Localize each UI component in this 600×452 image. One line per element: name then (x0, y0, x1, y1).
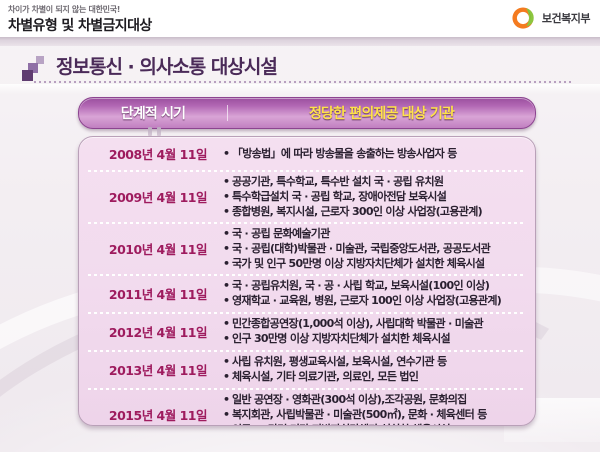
list-item: 「방송법」에 따라 방송물을 송출하는 방송사업자 등 (223, 146, 527, 161)
row-date: 2009년 4월 11일 (79, 187, 219, 206)
list-item: 영재학교 · 교육원, 병원, 근로자 100인 이상 사업장(고용관계) (223, 293, 527, 308)
row-date: 2012년 4월 11일 (79, 322, 219, 341)
list-item: 특수학급설치 국 · 공립 학교, 장애아전담 보육시설 (223, 189, 527, 204)
table-row: 2010년 4월 11일 국 · 공립 문화예술기관 국 · 공립(대학)박물관… (79, 222, 535, 274)
header-divider (0, 37, 600, 46)
row-date: 2008년 4월 11일 (79, 144, 219, 163)
list-item: 국 · 공립 문화예술기관 (223, 226, 527, 241)
mohw-logo-icon (510, 5, 536, 31)
list-item: 국 · 공립유치원, 국 · 공 · 사립 학교, 보육시설(100인 이상) (223, 278, 527, 293)
row-items: 민간종합공연장(1,000석 이상), 사립대학 박물관 · 미술관 인구 30… (219, 311, 535, 351)
list-item: 일반 공연장 · 영화관(300석 이상),조각공원, 문화의집 (223, 392, 527, 407)
list-item: 종합병원, 복지시설, 근로자 300인 이상 사업장(고용관계) (223, 204, 527, 219)
table-row: 2012년 4월 11일 민간종합공연장(1,000석 이상), 사립대학 박물… (79, 312, 535, 350)
table-header-bar: 단계적 시기 정당한 편의제공 대상 기관 (78, 97, 536, 129)
row-items: 일반 공연장 · 영화관(300석 이상),조각공원, 문화의집 복지회관, 사… (219, 387, 535, 426)
row-items: 공공기관, 특수학교, 특수반 설치 국 · 공립 유치원 특수학급설치 국 ·… (219, 169, 535, 224)
list-item: 국 · 공립(대학)박물관 · 미술관, 국립중앙도서관, 공공도서관 (223, 241, 527, 256)
row-date: 2010년 4월 11일 (79, 239, 219, 258)
table-row: 2009년 4월 11일 공공기관, 특수학교, 특수반 설치 국 · 공립 유… (79, 170, 535, 222)
row-items: 「방송법」에 따라 방송물을 송출하는 방송사업자 등 (219, 141, 535, 166)
row-items: 사립 유치원, 평생교육시설, 보육시설, 연수기관 등 체육시설, 기타 의료… (219, 349, 535, 389)
slide-root: 차이가 차별이 되지 않는 대한민국! 차별유형 및 차별금지대상 보건복지부 … (0, 0, 600, 452)
connector-left (148, 127, 152, 136)
column-header-targets: 정당한 편의제공 대상 기관 (228, 103, 535, 123)
list-item: 사립 유치원, 평생교육시설, 보육시설, 연수기관 등 (223, 354, 527, 369)
row-date: 2015년 4월 11일 (79, 405, 219, 424)
list-item: 인구 30만명 이상 지방자치단체가 설치한 체육시설 (223, 331, 527, 346)
ministry-name: 보건복지부 (542, 10, 590, 26)
page-title-row: 정보통신 · 의사소통 대상시설 (0, 52, 600, 82)
brand-title: 차별유형 및 차별금지대상 (8, 15, 152, 35)
column-header-period: 단계적 시기 (79, 103, 227, 123)
connector-right (157, 127, 161, 136)
list-item: 민간종합공연장(1,000석 이상), 사립대학 박물관 · 미술관 (223, 316, 527, 331)
table-row: 2013년 4월 11일 사립 유치원, 평생교육시설, 보육시설, 연수기관 … (79, 350, 535, 388)
ministry-logo: 보건복지부 (510, 5, 590, 31)
row-items: 국 · 공립 문화예술기관 국 · 공립(대학)박물관 · 미술관, 국립중앙도… (219, 221, 535, 276)
row-date: 2011년 4월 11일 (79, 284, 219, 303)
list-item: 체육시설, 기타 의료기관, 의료인, 모든 법인 (223, 369, 527, 384)
table-row: 2008년 4월 11일 「방송법」에 따라 방송물을 송출하는 방송사업자 등 (79, 137, 535, 170)
list-item: 국가 및 인구 50만명 이상 지방자치단체가 설치한 체육시설 (223, 256, 527, 271)
title-sheen (0, 84, 600, 94)
title-underline (34, 81, 572, 83)
table-row: 2015년 4월 11일 일반 공연장 · 영화관(300석 이상),조각공원,… (79, 388, 535, 426)
list-item: 공공기관, 특수학교, 특수반 설치 국 · 공립 유치원 (223, 174, 527, 189)
row-items: 국 · 공립유치원, 국 · 공 · 사립 학교, 보육시설(100인 이상) … (219, 273, 535, 313)
top-header-bar: 차이가 차별이 되지 않는 대한민국! 차별유형 및 차별금지대상 보건복지부 (0, 0, 600, 37)
schedule-table: 2008년 4월 11일 「방송법」에 따라 방송물을 송출하는 방송사업자 등… (78, 136, 536, 426)
squares-decoration-icon (22, 56, 48, 80)
list-item: 인구 30만명 미만 지방자치단체가 설치한 체육시설 (223, 422, 527, 426)
list-item: 복지회관, 사립박물관 · 미술관(500㎡), 문화 · 체육센터 등 (223, 407, 527, 422)
row-date: 2013년 4월 11일 (79, 360, 219, 379)
table-row: 2011년 4월 11일 국 · 공립유치원, 국 · 공 · 사립 학교, 보… (79, 274, 535, 312)
page-title: 정보통신 · 의사소통 대상시설 (56, 52, 277, 79)
tagline: 차이가 차별이 되지 않는 대한민국! (8, 4, 120, 15)
